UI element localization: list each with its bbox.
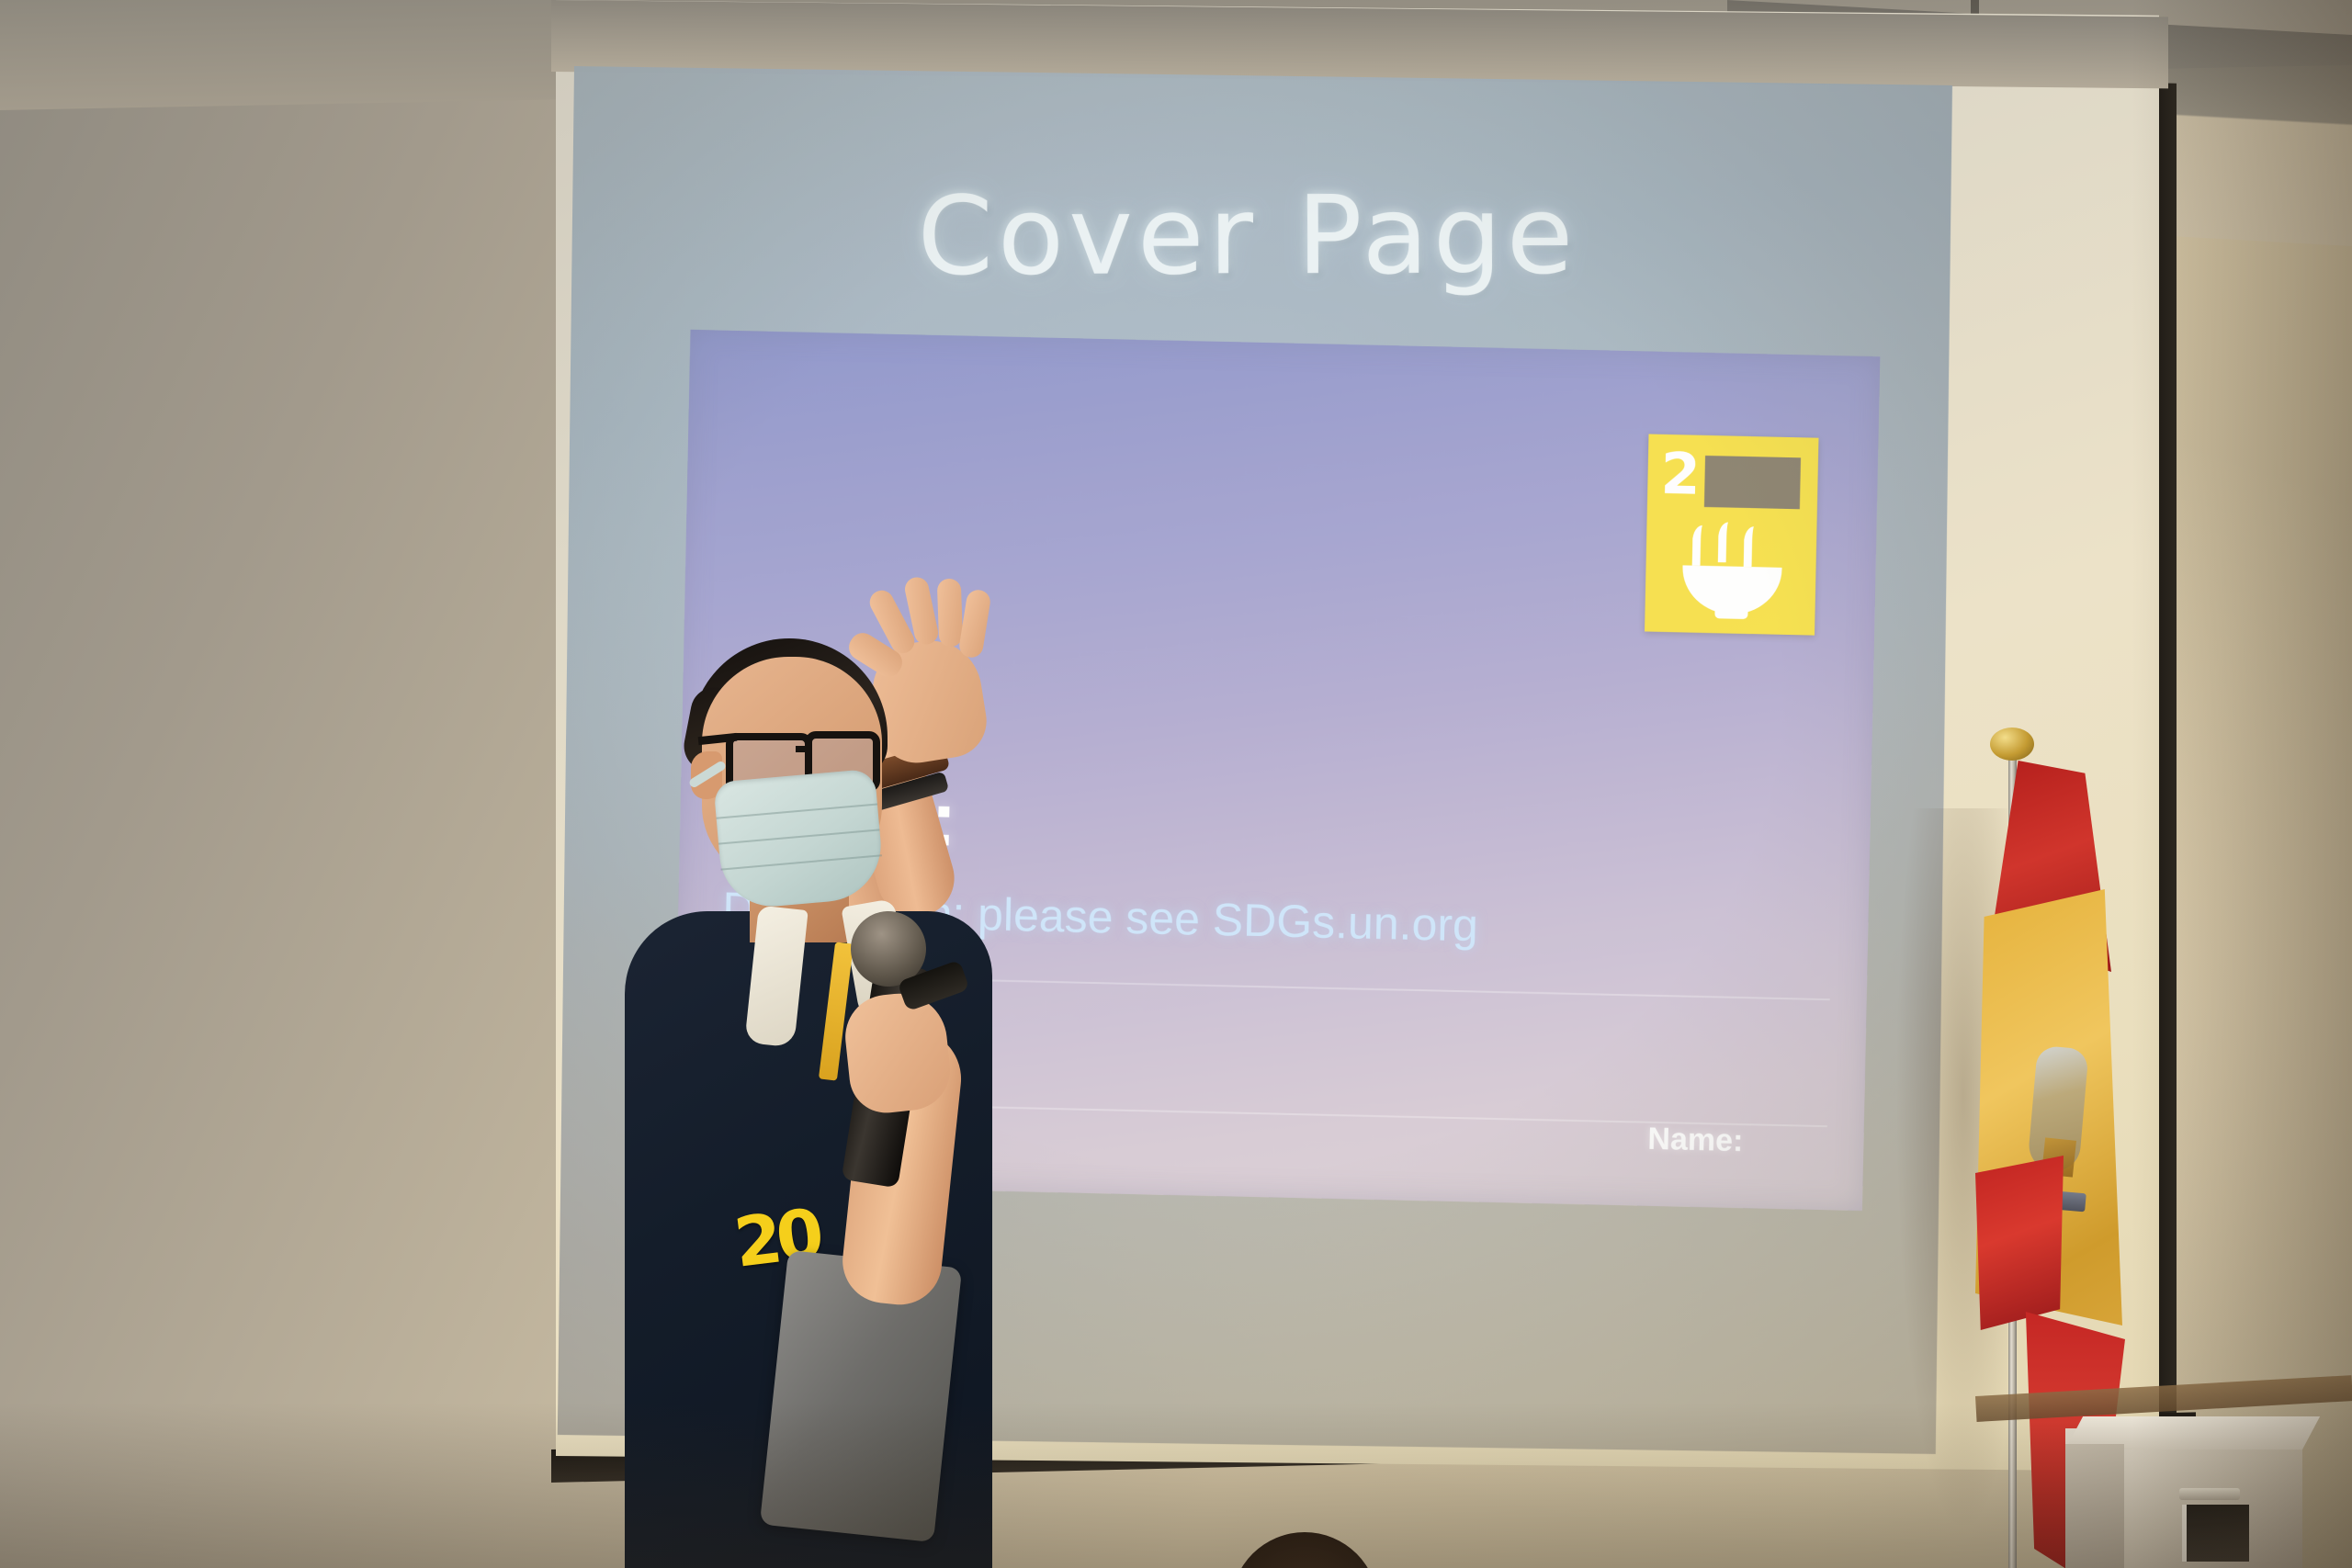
steam-line-icon (1692, 525, 1710, 566)
sdg-2-icon-tile: 2 (1645, 434, 1818, 636)
flag-pole-finial (1990, 728, 2034, 761)
slide-title: Cover Page (710, 171, 1786, 299)
steam-line-icon (1718, 522, 1736, 562)
steaming-bowl-icon (1668, 519, 1795, 623)
screenshot-root: Cover Page 2 SDG2: Description: please (0, 0, 2352, 1568)
sdg-title-bar (1704, 456, 1801, 509)
floor-shadow (0, 1403, 2352, 1568)
steam-line-icon (1744, 526, 1761, 567)
slide-name-field-label: Name: (1647, 1122, 1744, 1159)
bowl-foot-icon (1714, 610, 1747, 619)
bowl-icon (1681, 565, 1781, 615)
sdg-number-label: 2 (1660, 446, 1701, 503)
finger (937, 579, 964, 648)
flag-red-stripe-left (1975, 1156, 2064, 1330)
corner-shadow (2131, 0, 2352, 1568)
